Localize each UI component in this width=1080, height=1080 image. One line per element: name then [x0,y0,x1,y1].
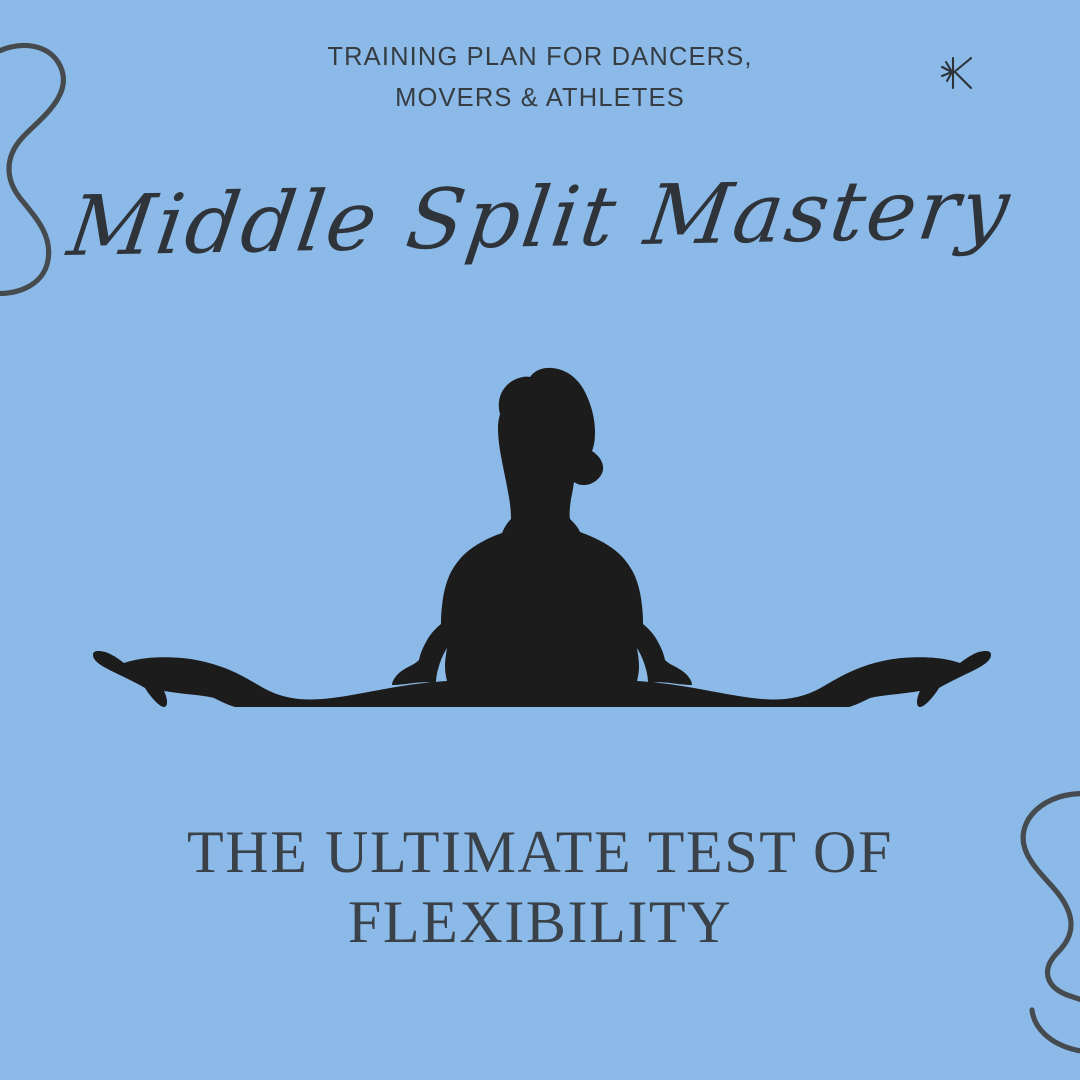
kicker-line-2: MOVERS & ATHLETES [0,78,1080,119]
poster-canvas: TRAINING PLAN FOR DANCERS, MOVERS & ATHL… [0,0,1080,1080]
subheadline-line-1: THE ULTIMATE TEST OF [0,818,1080,888]
subheadline-text: THE ULTIMATE TEST OF FLEXIBILITY [0,818,1080,957]
kicker-line-1: TRAINING PLAN FOR DANCERS, [0,37,1080,78]
kicker-text: TRAINING PLAN FOR DANCERS, MOVERS & ATHL… [0,37,1080,120]
dancer-middle-split-silhouette [92,352,992,707]
subheadline-line-2: FLEXIBILITY [0,888,1080,958]
page-title: Middle Split Mastery [0,158,1080,278]
